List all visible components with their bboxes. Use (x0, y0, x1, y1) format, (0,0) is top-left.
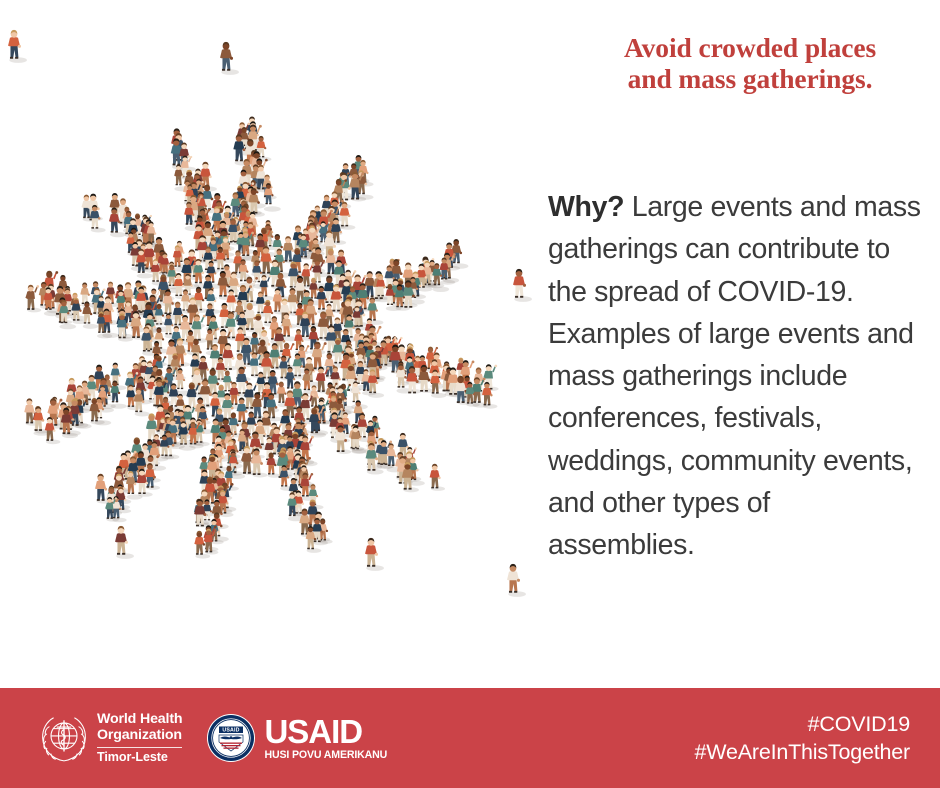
who-wordmark: World Health Organization Timor-Leste (97, 712, 182, 764)
logo-row: World Health Organization Timor-Leste US… (38, 688, 387, 788)
crowd-canvas (0, 0, 540, 688)
body-copy: Why? Large events and mass gatherings ca… (548, 186, 922, 567)
who-line-1: World Health (97, 712, 182, 728)
who-emblem-icon (38, 712, 90, 764)
usaid-mark: USAID (264, 716, 387, 748)
headline-line-2: and mass gatherings. (628, 63, 873, 94)
headline-line-1: Avoid crowded places (624, 32, 876, 63)
hashtag-covid19: #COVID19 (808, 710, 910, 738)
usaid-logo: USAID USAID HUSI POVU AMERIKANU (206, 713, 387, 763)
hashtag-together: #WeAreInThisTogether (695, 738, 911, 766)
body-lead: Why? (548, 191, 624, 223)
usaid-seal-icon: USAID (206, 713, 256, 763)
who-logo: World Health Organization Timor-Leste (38, 712, 182, 764)
usaid-tagline: HUSI POVU AMERIKANU (264, 749, 387, 761)
text-column: Avoid crowded places and mass gatherings… (545, 0, 940, 688)
svg-text:USAID: USAID (223, 728, 240, 734)
body-text: Large events and mass gatherings can con… (548, 191, 921, 561)
crowd-illustration (0, 0, 540, 688)
headline: Avoid crowded places and mass gatherings… (564, 32, 936, 94)
who-line-2: Organization (97, 728, 182, 744)
hashtag-block: #COVID19 #WeAreInThisTogether (695, 688, 911, 788)
usaid-wordmark: USAID HUSI POVU AMERIKANU (264, 716, 387, 761)
footer-band: World Health Organization Timor-Leste US… (0, 688, 940, 788)
poster-root: Avoid crowded places and mass gatherings… (0, 0, 940, 788)
who-divider (97, 747, 182, 748)
who-country: Timor-Leste (97, 751, 182, 764)
